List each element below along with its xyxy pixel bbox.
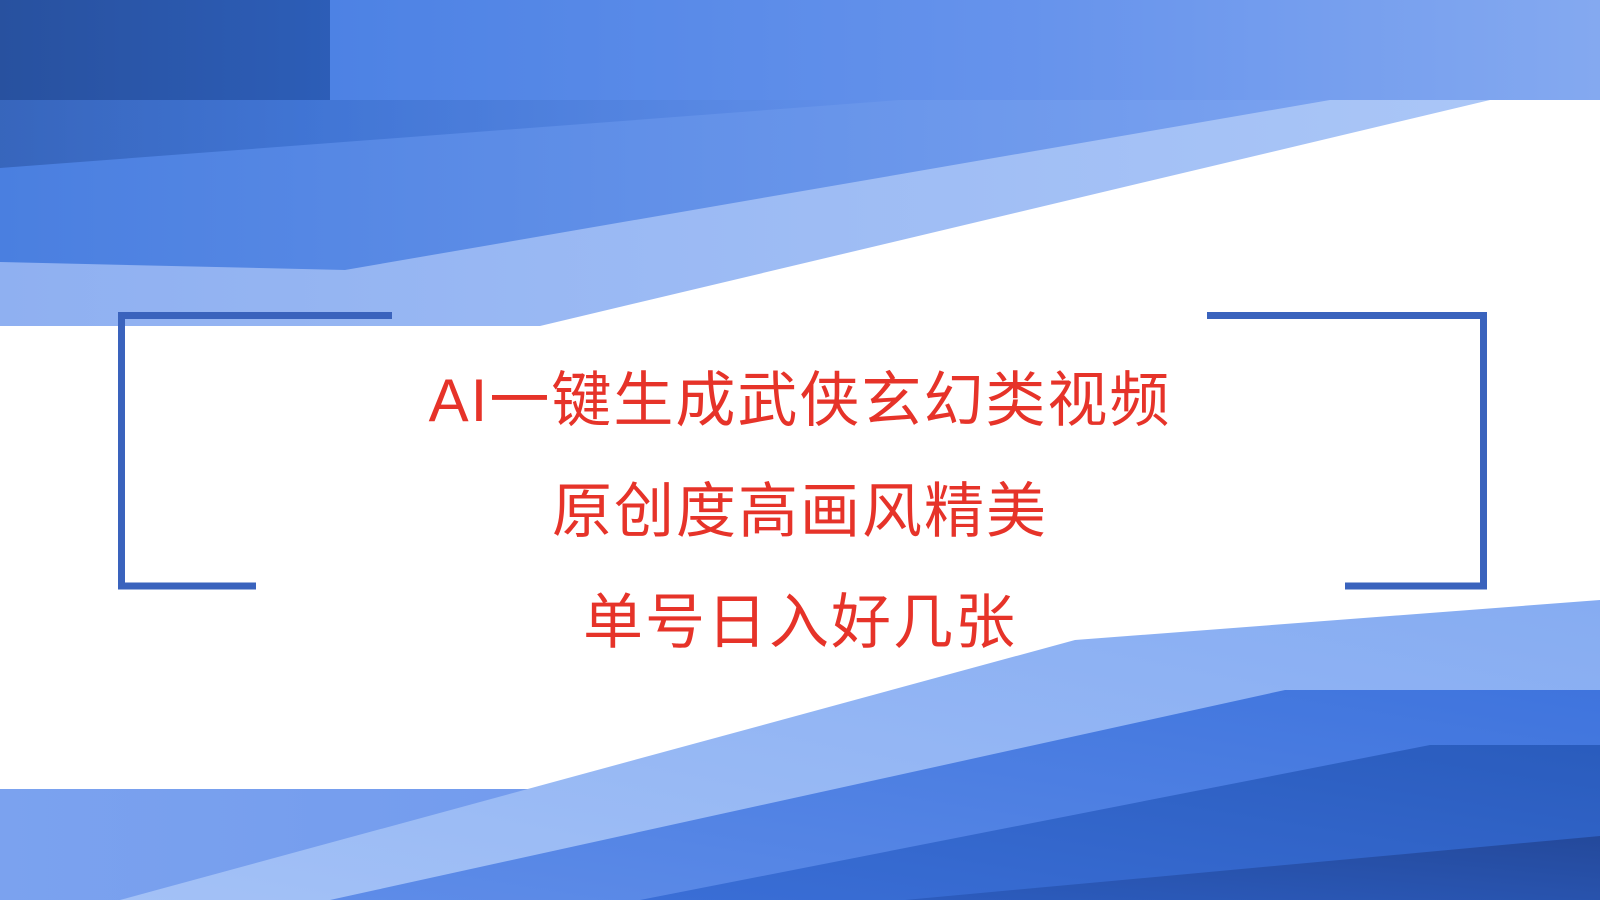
top-band-solid [330,0,1600,100]
headline-line-3: 单号日入好几张 [0,567,1600,678]
headline-block: AI一键生成武侠玄幻类视频 原创度高画风精美 单号日入好几张 [0,345,1600,678]
poster-canvas: AI一键生成武侠玄幻类视频 原创度高画风精美 单号日入好几张 [0,0,1600,900]
headline-line-2: 原创度高画风精美 [0,456,1600,567]
headline-line-1: AI一键生成武侠玄幻类视频 [0,345,1600,456]
